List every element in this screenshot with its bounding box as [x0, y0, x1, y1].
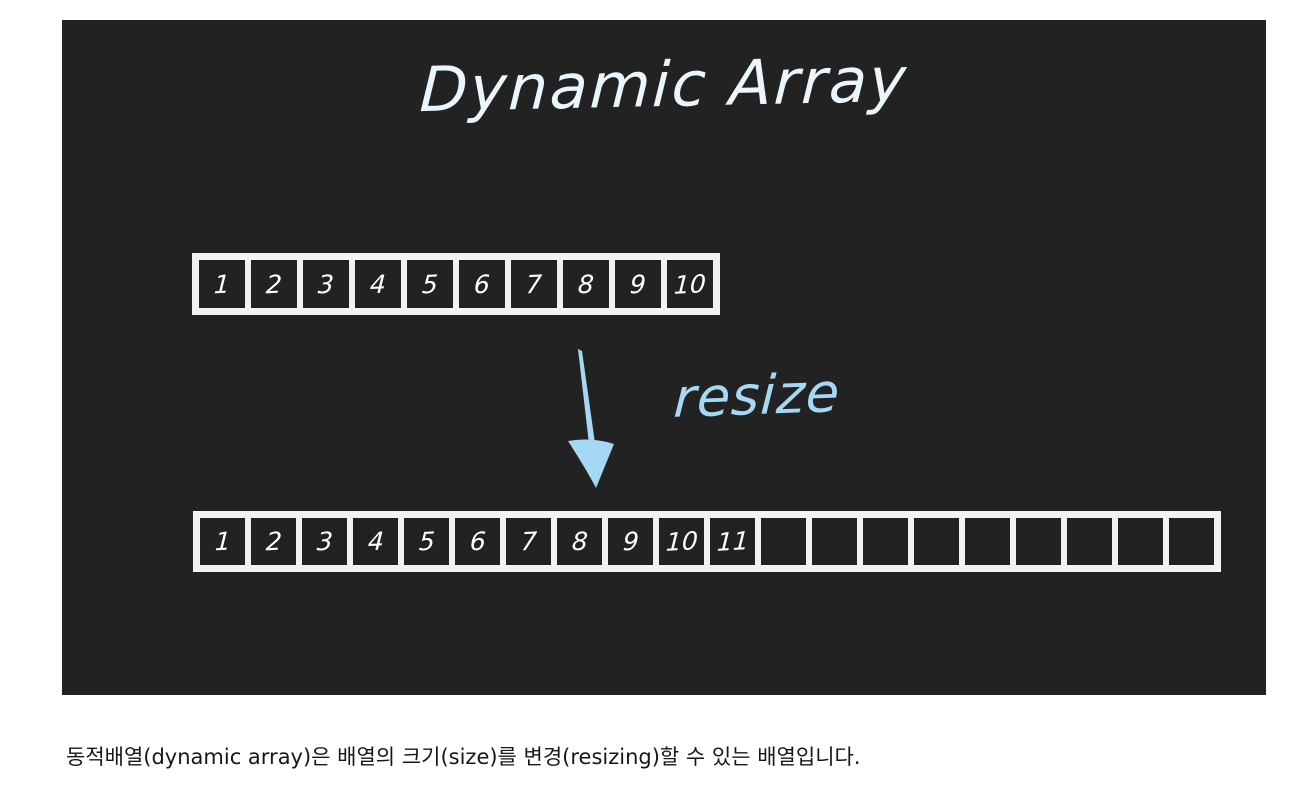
array-cell: 3 [299, 515, 350, 568]
array-cell-value: 1 [214, 529, 231, 555]
array-cell [962, 515, 1013, 568]
array-cell-value: 10 [673, 271, 706, 298]
original-array: 12345678910 [192, 253, 720, 315]
array-cell: 11 [707, 515, 758, 568]
array-cell: 6 [452, 515, 503, 568]
array-cell: 6 [456, 257, 508, 311]
array-cell-value: 5 [418, 529, 435, 555]
resized-array: 1234567891011 [193, 511, 1221, 572]
array-cell: 8 [554, 515, 605, 568]
array-cell [758, 515, 809, 568]
array-cell-value: 6 [473, 271, 490, 297]
array-cell-value: 2 [265, 271, 282, 297]
array-cell: 7 [508, 257, 560, 311]
array-cell [1064, 515, 1115, 568]
array-cell: 3 [300, 257, 352, 311]
page-title: Dynamic Array [62, 35, 1266, 133]
resize-label: resize [672, 361, 842, 430]
array-cell [911, 515, 962, 568]
array-cell-value: 5 [421, 271, 438, 297]
array-cell [1115, 515, 1166, 568]
array-cell-value: 3 [317, 271, 334, 297]
array-cell: 4 [352, 257, 404, 311]
array-cell: 1 [197, 515, 248, 568]
array-cell [1013, 515, 1064, 568]
array-cell: 4 [350, 515, 401, 568]
array-cell [1166, 515, 1217, 568]
array-cell-value: 3 [316, 529, 333, 555]
down-arrow-icon [562, 345, 642, 495]
caption-text: 동적배열(dynamic array)은 배열의 크기(size)를 변경(re… [66, 742, 861, 772]
array-cell [860, 515, 911, 568]
array-cell-value: 1 [213, 271, 230, 297]
array-cell: 2 [248, 257, 300, 311]
array-cell [809, 515, 860, 568]
array-cell-value: 4 [367, 529, 384, 555]
array-cell: 9 [605, 515, 656, 568]
array-cell: 10 [664, 257, 716, 311]
array-cell-value: 11 [716, 528, 749, 555]
array-cell: 8 [560, 257, 612, 311]
array-cell: 1 [196, 257, 248, 311]
resize-arrow [562, 345, 642, 495]
array-cell-value: 8 [577, 271, 594, 297]
array-cell-value: 9 [629, 271, 646, 297]
array-cell-value: 8 [571, 529, 588, 555]
array-cell-value: 7 [520, 529, 537, 555]
array-cell: 10 [656, 515, 707, 568]
array-cell-value: 10 [665, 528, 698, 555]
array-cell-value: 7 [525, 271, 542, 297]
array-cell-value: 9 [622, 529, 639, 555]
page-root: Dynamic Array 12345678910 resize 1234567… [0, 0, 1310, 792]
illustration-panel: Dynamic Array 12345678910 resize 1234567… [62, 20, 1266, 695]
array-cell: 9 [612, 257, 664, 311]
array-cell: 7 [503, 515, 554, 568]
array-cell-value: 2 [265, 529, 282, 555]
array-cell-value: 6 [469, 529, 486, 555]
array-cell: 2 [248, 515, 299, 568]
array-cell: 5 [404, 257, 456, 311]
array-cell: 5 [401, 515, 452, 568]
array-cell-value: 4 [369, 271, 386, 297]
